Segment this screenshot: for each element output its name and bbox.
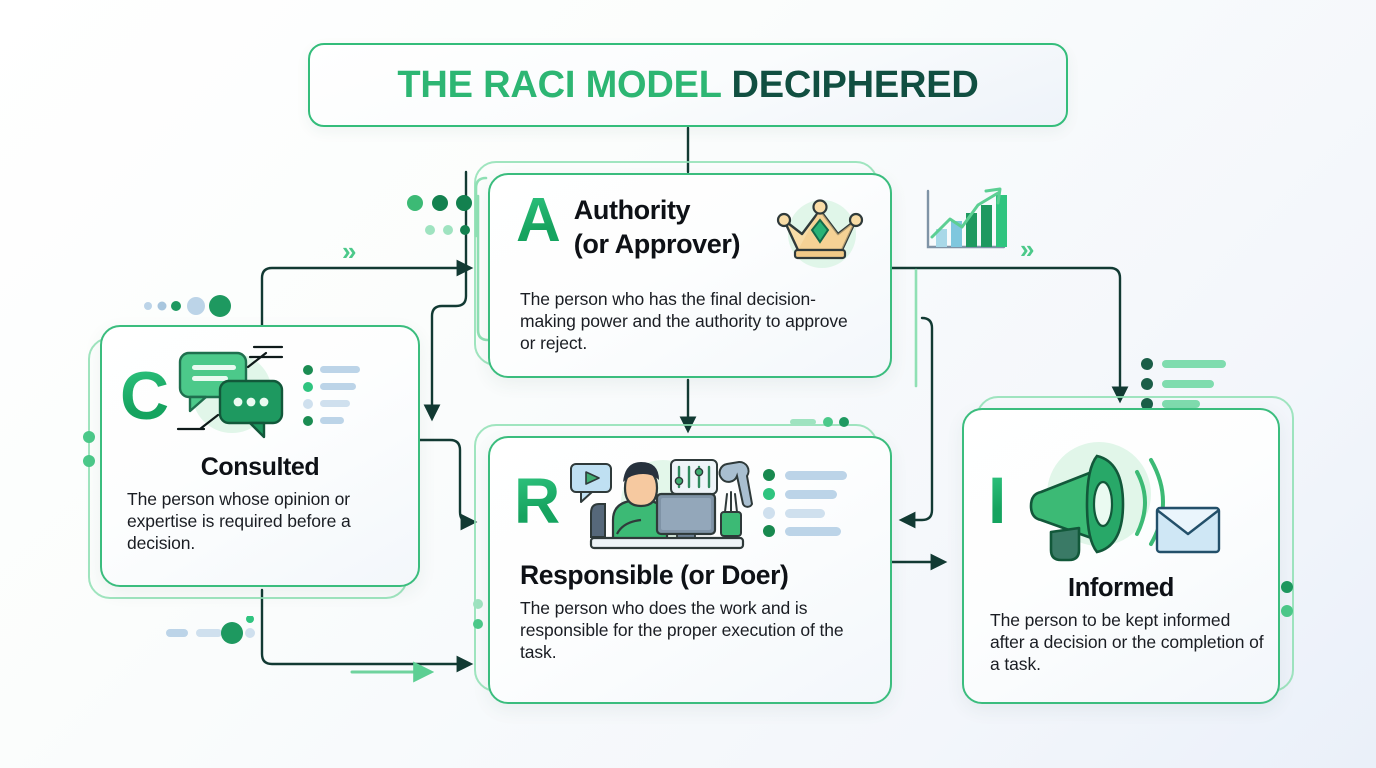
title-part-2: DECIPHERED xyxy=(731,64,978,106)
card-informed-title: Informed xyxy=(964,564,1278,603)
card-authority-header: A Authority (or Approver) xyxy=(490,175,890,280)
dot-cluster-icon xyxy=(142,292,238,320)
card-consulted[interactable]: C xyxy=(100,325,420,587)
dot-pair-icon xyxy=(470,596,486,636)
chevron-right-double-icon: » xyxy=(342,236,356,267)
infographic-canvas: THE RACI MODEL DECIPHERED A Authority (o… xyxy=(0,0,1376,768)
wire-authority-to-informed xyxy=(892,268,1120,400)
title-banner: THE RACI MODEL DECIPHERED xyxy=(308,43,1068,127)
dash-dot-cluster-icon xyxy=(164,616,264,650)
dot-cluster-icon xyxy=(404,190,490,246)
card-authority[interactable]: A Authority (or Approver) The person who… xyxy=(488,173,892,378)
dot-pair-icon xyxy=(1278,578,1296,638)
card-consulted-title: Consulted xyxy=(102,451,418,482)
chat-bubbles-icon xyxy=(170,341,300,451)
card-informed[interactable]: I Informed The xyxy=(962,408,1280,704)
bullet-list-icon xyxy=(761,466,853,538)
dash-dot-icon xyxy=(790,414,850,430)
card-authority-title-line2: (or Approver) xyxy=(574,230,752,260)
card-responsible-title: Responsible (or Doer) xyxy=(490,554,890,591)
card-consulted-letter: C xyxy=(120,367,168,425)
card-consulted-header: C xyxy=(102,327,418,451)
card-responsible-letter: R xyxy=(514,474,559,529)
card-authority-letter: A xyxy=(516,194,560,247)
card-informed-header: I xyxy=(964,410,1278,564)
chevron-right-double-icon: » xyxy=(1020,234,1034,265)
card-responsible-description: The person who does the work and is resp… xyxy=(490,591,890,663)
card-informed-letter: I xyxy=(988,472,1005,529)
card-responsible-header: R xyxy=(490,438,890,554)
page-title: THE RACI MODEL DECIPHERED xyxy=(397,64,978,107)
person-at-desk-icon xyxy=(565,450,755,554)
bullet-list-icon xyxy=(302,363,362,429)
wire-consulted-to-responsible-upper xyxy=(420,440,474,522)
title-part-1: THE RACI MODEL xyxy=(397,64,721,106)
card-authority-description: The person who has the final decision-ma… xyxy=(490,280,890,354)
bar-chart-growth-icon xyxy=(918,185,1010,263)
card-informed-description: The person to be kept informed after a d… xyxy=(964,603,1278,675)
card-consulted-description: The person whose opinion or expertise is… xyxy=(102,482,418,554)
megaphone-icon xyxy=(1011,436,1226,564)
card-authority-title-line1: Authority xyxy=(574,196,752,226)
wire-consulted-to-responsible xyxy=(262,590,470,664)
card-responsible[interactable]: R xyxy=(488,436,892,704)
crown-icon xyxy=(766,192,870,280)
dot-pair-icon xyxy=(80,428,98,488)
